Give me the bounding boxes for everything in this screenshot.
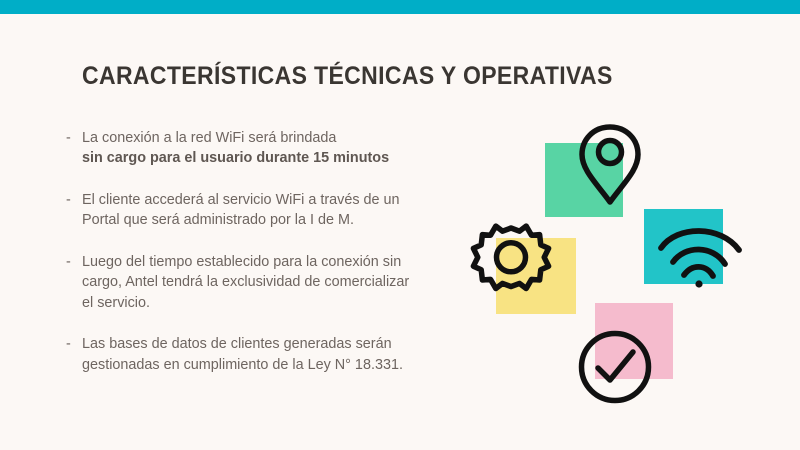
bullet-marker: - — [66, 252, 71, 272]
bullet-marker: - — [66, 190, 71, 210]
wifi-icon — [655, 218, 747, 290]
slide: CARACTERÍSTICAS TÉCNICAS Y OPERATIVAS - … — [0, 0, 800, 450]
page-title: CARACTERÍSTICAS TÉCNICAS Y OPERATIVAS — [82, 62, 613, 91]
bullet-line: gestionadas en cumplimiento de la Ley N°… — [82, 355, 486, 375]
list-item: - Las bases de datos de clientes generad… — [66, 334, 486, 375]
bullet-line: Las bases de datos de clientes generadas… — [82, 334, 486, 354]
bullet-list: - La conexión a la red WiFi será brindad… — [66, 128, 486, 396]
pink-square — [595, 303, 673, 379]
bullet-line: El cliente accederá al servicio WiFi a t… — [82, 190, 486, 210]
accent-top-bar — [0, 0, 800, 14]
bullet-marker: - — [66, 334, 71, 354]
location-pin-icon — [577, 122, 643, 214]
teal-square — [644, 209, 723, 284]
bullet-line: el servicio. — [82, 293, 486, 313]
bullet-marker: - — [66, 128, 71, 148]
bullet-line: sin cargo para el usuario durante 15 min… — [82, 148, 486, 168]
yellow-square — [496, 238, 576, 314]
bullet-line: cargo, Antel tendrá la exclusividad de c… — [82, 272, 486, 292]
check-circle-icon — [576, 328, 654, 406]
green-square — [545, 143, 623, 217]
bullet-line: La conexión a la red WiFi será brindada — [82, 128, 486, 148]
list-item: - El cliente accederá al servicio WiFi a… — [66, 190, 486, 231]
list-item: - Luego del tiempo establecido para la c… — [66, 252, 486, 313]
bullet-line: Portal que será administrado por la I de… — [82, 210, 486, 230]
bullet-line: Luego del tiempo establecido para la con… — [82, 252, 486, 272]
list-item: - La conexión a la red WiFi será brindad… — [66, 128, 486, 169]
